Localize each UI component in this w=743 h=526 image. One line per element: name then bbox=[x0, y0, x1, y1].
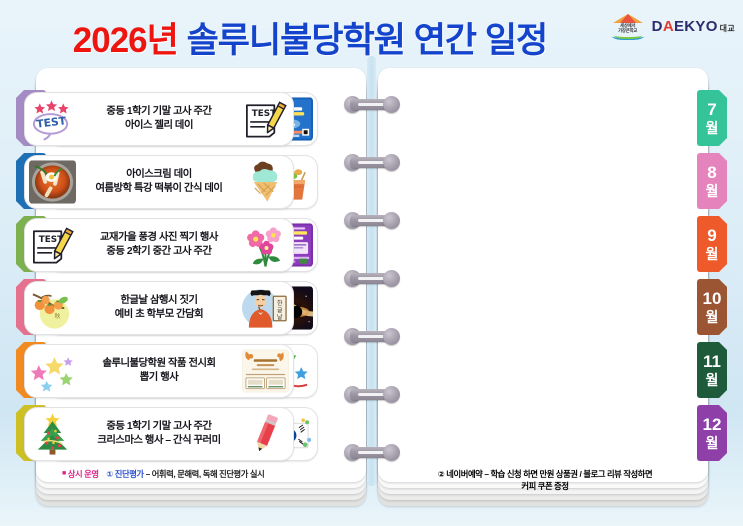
schedule-row-month-10[interactable]: 秋한글날 삼행시 짓기예비 초 학부모 간담회한글날 bbox=[24, 281, 294, 335]
month-tab-unit: 월 bbox=[706, 247, 719, 261]
schedule-row-month-8[interactable]: 아이스크림 데이여름방학 특강 떡볶이 간식 데이 bbox=[24, 155, 294, 209]
binder-ring bbox=[344, 96, 400, 113]
svg-text:한: 한 bbox=[277, 300, 283, 307]
schedule-row-line-2: 중등 2학기 중간 고사 주간 bbox=[77, 245, 241, 260]
footer-right-line1: ② 네이버예약 – 학습 신청 하면 만원 상품권 / 블로그 리뷰 작성하면 bbox=[400, 468, 690, 480]
schedule-row-line-2: 예비 초 학부모 간담회 bbox=[77, 308, 241, 323]
month-tab-11[interactable]: 11월 bbox=[697, 342, 727, 398]
right-page bbox=[378, 68, 708, 482]
month-tab-unit: 월 bbox=[706, 436, 719, 450]
title-year: 2026년 bbox=[73, 21, 178, 60]
schedule-row-line-1: 한글날 삼행시 짓기 bbox=[77, 294, 241, 309]
persimmon-autumn-illustration: 秋 bbox=[29, 286, 76, 330]
month-tab-unit: 월 bbox=[706, 310, 719, 324]
schedule-row-month-7[interactable]: TEST중등 1학기 기말 고사 주간아이스 젤리 데이TEST bbox=[24, 92, 294, 146]
binder-ring bbox=[344, 386, 400, 403]
footer-note-left: ■ 상시 운영 ① 진단평가 – 어휘력, 문해력, 독해 진단평가 실시 bbox=[62, 468, 264, 480]
bullet-square-icon: ■ bbox=[62, 470, 66, 477]
month-tab-number: 10 bbox=[703, 290, 722, 307]
month-tab-unit: 월 bbox=[706, 121, 719, 135]
schedule-row-month-9[interactable]: TEST교재가을 풍경 사진 찍기 행사중등 2학기 중간 고사 주간 bbox=[24, 218, 294, 272]
schedule-row-line-1: 아이스크림 데이 bbox=[77, 168, 241, 183]
tteokbokki-photo bbox=[29, 160, 76, 204]
daekyo-logo: 세상에서가장큰학교 DAEKYO대교 bbox=[611, 11, 735, 41]
month-tab-number: 9 bbox=[707, 227, 716, 244]
test-paper-pencil-icon: TEST bbox=[242, 97, 289, 141]
right-page-stack bbox=[378, 68, 708, 488]
binder-ring bbox=[344, 270, 400, 287]
ring-cap-right bbox=[383, 328, 400, 345]
ring-cap-right bbox=[383, 96, 400, 113]
month-tab-number: 12 bbox=[703, 416, 722, 433]
house-roof-inner-shape bbox=[620, 14, 636, 23]
svg-text:날: 날 bbox=[277, 313, 283, 321]
red-pencil-illustration bbox=[242, 412, 289, 456]
month-tab-number: 11 bbox=[703, 353, 721, 370]
schedule-row-text: 아이스크림 데이여름방학 특강 떡볶이 간식 데이 bbox=[76, 168, 242, 197]
schedule-row-text: 중등 1학기 기말 고사 주간크리스마스 행사 – 간식 꾸러미 bbox=[76, 420, 242, 449]
svg-text:글: 글 bbox=[277, 307, 283, 314]
footer-right-number: ② bbox=[438, 469, 445, 479]
schedule-row-line-2: 크리스마스 행사 – 간식 꾸러미 bbox=[77, 434, 241, 449]
footer-right-label: 네이버예약 bbox=[446, 469, 482, 479]
ring-cap-right bbox=[383, 386, 400, 403]
month-tab-unit: 월 bbox=[706, 184, 719, 198]
month-tab-10[interactable]: 10월 bbox=[697, 279, 727, 335]
month-tab-8[interactable]: 8월 bbox=[697, 153, 727, 209]
schedule-row-line-2: 뽑기 행사 bbox=[77, 371, 241, 386]
month-tab-number: 7 bbox=[707, 101, 716, 118]
footer-left-desc: – 어휘력, 문해력, 독해 진단평가 실시 bbox=[146, 469, 265, 479]
month-tab-7[interactable]: 7월 bbox=[697, 90, 727, 146]
pink-flowers-illustration bbox=[242, 223, 289, 267]
schedule-row-text: 교재가을 풍경 사진 찍기 행사중등 2학기 중간 고사 주간 bbox=[76, 231, 242, 260]
christmas-tree-illustration bbox=[29, 412, 76, 456]
house-wave-green bbox=[614, 31, 642, 39]
schedule-row-line-2: 아이스 젤리 데이 bbox=[77, 119, 241, 134]
schedule-row-line-1: 중등 1학기 기말 고사 주간 bbox=[77, 420, 241, 435]
title-rest: 솔루니불당학원 연간 일정 bbox=[178, 21, 547, 60]
month-tab-12[interactable]: 12월 bbox=[697, 405, 727, 461]
schedule-row-line-1: 교재가을 풍경 사진 찍기 행사 bbox=[77, 231, 241, 246]
schedule-row-month-11[interactable]: 솔루니불당학원 작품 전시회뽑기 행사 bbox=[24, 344, 294, 398]
page-title: 2026년 솔루니불당학원 연간 일정 bbox=[0, 12, 620, 63]
footer-left-number: ① bbox=[106, 469, 113, 479]
binder-ring bbox=[344, 328, 400, 345]
footer-left-badge: 상시 운영 bbox=[68, 469, 99, 479]
school-house-icon: 세상에서가장큰학교 bbox=[611, 13, 645, 40]
binder-ring bbox=[344, 444, 400, 461]
binder-ring bbox=[344, 154, 400, 171]
ice-cream-cone-illustration bbox=[242, 160, 289, 204]
daekyo-wordmark: DAEKYO대교 bbox=[652, 18, 735, 35]
month-tab-unit: 월 bbox=[706, 373, 719, 387]
schedule-row-line-2: 여름방학 특강 떡볶이 간식 데이 bbox=[77, 182, 241, 197]
test-paper-pencil-icon: TEST bbox=[29, 223, 76, 267]
schedule-row-text: 중등 1학기 기말 고사 주간아이스 젤리 데이 bbox=[76, 105, 242, 134]
footer-right-desc-2: 커피 쿠폰 증정 bbox=[400, 480, 690, 492]
schedule-row-month-12[interactable]: 중등 1학기 기말 고사 주간크리스마스 행사 – 간식 꾸러미 bbox=[24, 407, 294, 461]
footer-left-label: 진단평가 bbox=[115, 469, 144, 479]
svg-text:秋: 秋 bbox=[54, 312, 60, 320]
colorful-stars-illustration bbox=[29, 349, 76, 393]
footer-right-desc-1: – 학습 신청 하면 만원 상품권 / 블로그 리뷰 작성하면 bbox=[484, 469, 652, 479]
binder-ring bbox=[344, 212, 400, 229]
daekyo-wordmark-korean: 대교 bbox=[720, 24, 735, 33]
schedule-row-text: 한글날 삼행시 짓기예비 초 학부모 간담회 bbox=[76, 294, 242, 323]
ring-cap-right bbox=[383, 444, 400, 461]
footer-note-right: ② 네이버예약 – 학습 신청 하면 만원 상품권 / 블로그 리뷰 작성하면 … bbox=[400, 468, 690, 492]
poster-canvas: 2026년 솔루니불당학원 연간 일정 세상에서가장큰학교 DAEKYO대교 bbox=[0, 0, 743, 526]
ring-cap-right bbox=[383, 212, 400, 229]
schedule-row-line-1: 중등 1학기 기말 고사 주간 bbox=[77, 105, 241, 120]
svg-text:TEST: TEST bbox=[36, 114, 68, 131]
king-sejong-hangul-illustration: 한글날 bbox=[242, 286, 289, 330]
ring-cap-right bbox=[383, 270, 400, 287]
test-stars-doodle: TEST bbox=[29, 97, 76, 141]
autumn-exhibition-poster bbox=[242, 349, 289, 393]
schedule-row-line-1: 솔루니불당학원 작품 전시회 bbox=[77, 357, 241, 372]
month-tab-9[interactable]: 9월 bbox=[697, 216, 727, 272]
schedule-row-text: 솔루니불당학원 작품 전시회뽑기 행사 bbox=[76, 357, 242, 386]
month-tab-number: 8 bbox=[707, 164, 716, 181]
ring-cap-right bbox=[383, 154, 400, 171]
